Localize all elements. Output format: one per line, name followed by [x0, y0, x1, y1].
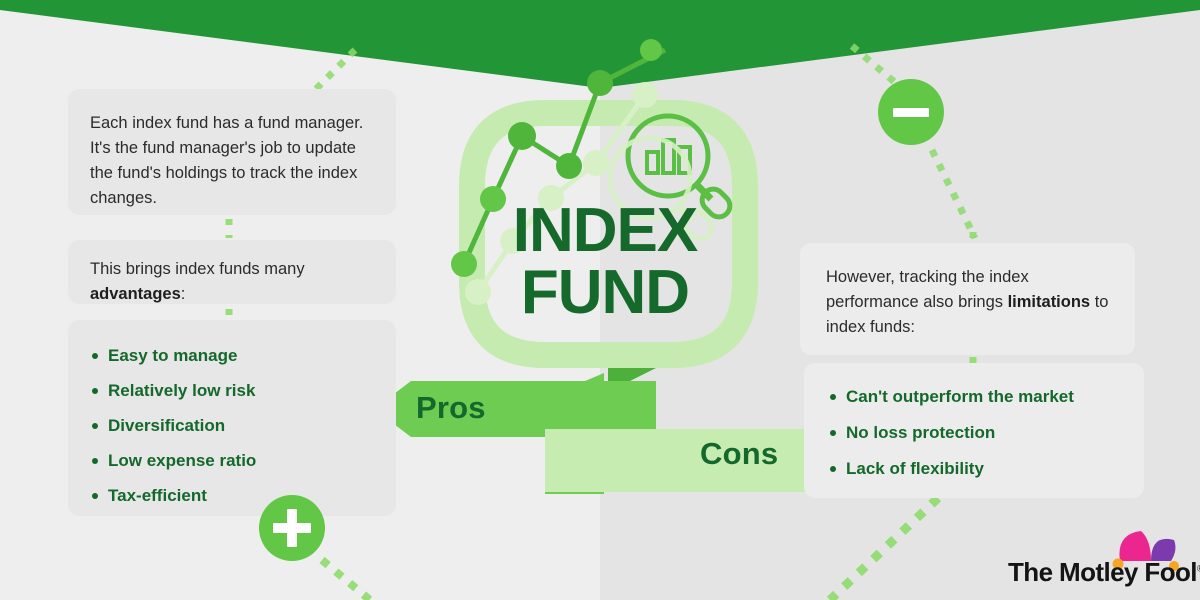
- infographic-canvas: INDEX FUND Pros Cons Each index fund has…: [0, 0, 1200, 600]
- minus-glyph: [893, 108, 929, 117]
- list-item: Low expense ratio: [68, 443, 396, 478]
- plus-badge-icon: [259, 495, 325, 561]
- list-item: No loss protection: [804, 415, 1144, 451]
- limitations-intro-prefix: However, tracking the index performance …: [826, 268, 1029, 311]
- top-banner-chevron: [0, 0, 1200, 95]
- fund-manager-note-card: Each index fund has a fund manager. It's…: [68, 89, 396, 215]
- limitations-intro-text: However, tracking the index performance …: [826, 265, 1113, 340]
- logo-wordmark-text: The Motley Fool: [1008, 557, 1197, 587]
- advantages-intro-text: This brings index funds many advantages:: [90, 257, 372, 307]
- plus-glyph-vertical: [287, 509, 297, 547]
- advantages-intro-prefix: This brings index funds many: [90, 260, 305, 278]
- list-item: Lack of flexibility: [804, 451, 1144, 487]
- list-item: Tax-efficient: [68, 478, 396, 513]
- pros-list-card: Easy to manage Relatively low risk Diver…: [68, 320, 396, 516]
- list-item: Relatively low risk: [68, 373, 396, 408]
- wordmark-line-2: FUND: [440, 262, 770, 324]
- cons-list-card: Can't outperform the market No loss prot…: [804, 363, 1144, 498]
- fund-manager-note-text: Each index fund has a fund manager. It's…: [90, 111, 372, 211]
- wordmark-line-1: INDEX: [440, 200, 770, 262]
- pros-arrow-label: Pros: [416, 390, 486, 426]
- cons-list: Can't outperform the market No loss prot…: [804, 379, 1144, 487]
- logo-wordmark: The Motley Fool®: [1008, 557, 1200, 588]
- list-item: Diversification: [68, 408, 396, 443]
- motley-fool-logo: The Motley Fool®: [1008, 528, 1186, 590]
- advantages-intro-card: This brings index funds many advantages:: [68, 240, 396, 304]
- advantages-intro-suffix: :: [181, 285, 186, 303]
- advantages-intro-bold: advantages: [90, 285, 181, 303]
- pros-list: Easy to manage Relatively low risk Diver…: [68, 338, 396, 513]
- minus-badge-icon: [878, 79, 944, 145]
- list-item: Can't outperform the market: [804, 379, 1144, 415]
- limitations-intro-bold: limitations: [1008, 293, 1091, 311]
- center-wordmark: INDEX FUND: [440, 200, 770, 324]
- cons-arrow-label: Cons: [700, 436, 778, 472]
- limitations-intro-card: However, tracking the index performance …: [800, 243, 1135, 355]
- list-item: Easy to manage: [68, 338, 396, 373]
